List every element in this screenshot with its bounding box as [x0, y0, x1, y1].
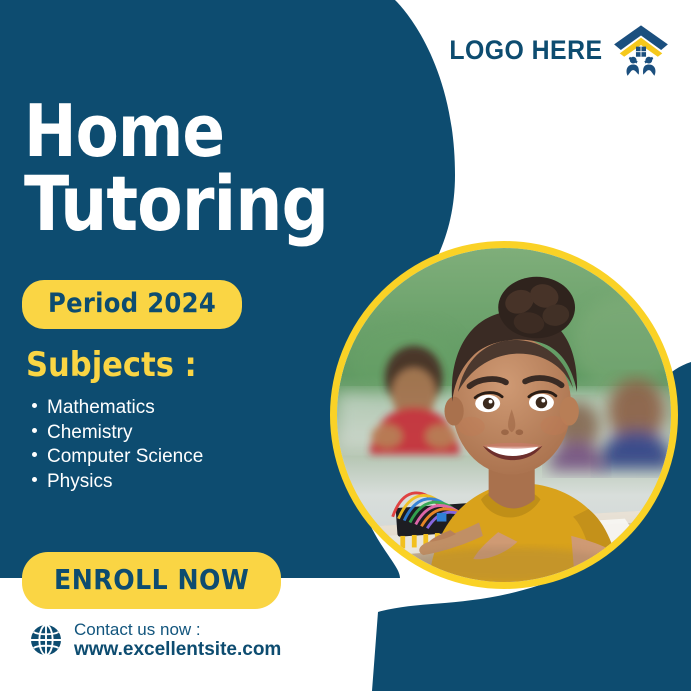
student-photo	[330, 241, 678, 589]
logo-text: LOGO HERE	[450, 35, 603, 66]
bullet-icon	[32, 403, 37, 408]
contact-label: Contact us now :	[74, 620, 281, 639]
globe-icon	[30, 624, 62, 656]
list-item: Physics	[32, 470, 203, 495]
list-item: Chemistry	[32, 421, 203, 446]
subjects-heading: Subjects :	[26, 345, 197, 385]
logo[interactable]: LOGO HERE	[436, 22, 669, 78]
list-item: Computer Science	[32, 445, 203, 470]
contact-row[interactable]: Contact us now : www.excellentsite.com	[30, 620, 281, 660]
subject-label: Physics	[47, 470, 112, 495]
subject-label: Mathematics	[47, 396, 155, 421]
subjects-list: Mathematics Chemistry Computer Science P…	[32, 396, 203, 494]
headline-line-1: Home	[24, 98, 328, 166]
contact-url[interactable]: www.excellentsite.com	[74, 639, 281, 660]
student-photo-illustration	[337, 248, 671, 582]
subject-label: Computer Science	[47, 445, 203, 470]
contact-text: Contact us now : www.excellentsite.com	[74, 620, 281, 660]
student-photo-inner	[337, 248, 671, 582]
bullet-icon	[32, 477, 37, 482]
poster-canvas: LOGO HERE Home Tutoring Period 2024 Subj…	[0, 0, 691, 691]
bullet-icon	[32, 452, 37, 457]
subject-label: Chemistry	[47, 421, 133, 446]
period-badge: Period 2024	[22, 280, 242, 329]
headline-line-2: Tutoring	[24, 168, 328, 239]
bullet-icon	[32, 428, 37, 433]
list-item: Mathematics	[32, 396, 203, 421]
house-roof-people-icon	[613, 22, 669, 78]
enroll-now-button[interactable]: ENROLL NOW	[22, 552, 281, 609]
page-title: Home Tutoring	[24, 98, 337, 239]
